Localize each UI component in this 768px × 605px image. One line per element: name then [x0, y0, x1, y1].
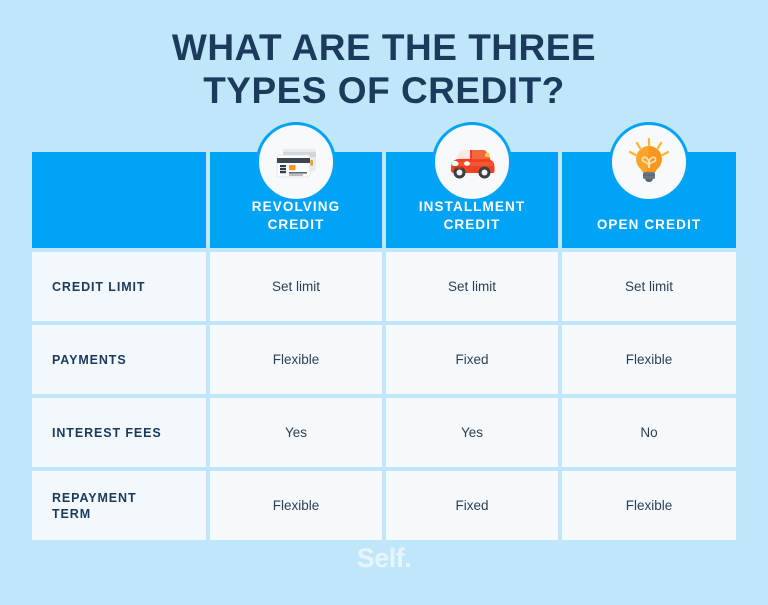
row-label-line-1: INTEREST FEES: [52, 426, 162, 440]
cell-value: Fixed: [455, 351, 488, 369]
row-label-text: INTEREST FEES: [52, 425, 162, 441]
row-label-payments: PAYMENTS: [32, 325, 206, 394]
cell-value: Flexible: [626, 497, 673, 515]
column-header-line-2: CREDIT: [444, 217, 501, 232]
column-header-line-2: CREDIT: [268, 217, 325, 232]
car-icon: [432, 122, 512, 202]
cell-value: Set limit: [625, 278, 673, 296]
row-label-line-1: PAYMENTS: [52, 353, 127, 367]
column-header-line-1: OPEN CREDIT: [597, 217, 701, 232]
column-header-label-revolving-credit: REVOLVING CREDIT: [252, 198, 340, 234]
table-cell-repayment-term-revolving: Flexible: [210, 471, 382, 540]
lightbulb-icon: [609, 122, 689, 202]
column-header-installment-credit: INSTALLMENT CREDIT: [386, 152, 558, 248]
brand-logo-text: Self.: [357, 543, 412, 573]
page-title-line-1: WHAT ARE THE THREE: [0, 26, 768, 69]
table-cell-interest-fees-installment: Yes: [386, 398, 558, 467]
column-header-revolving-credit: REVOLVING CREDIT: [210, 152, 382, 248]
row-label-interest-fees: INTEREST FEES: [32, 398, 206, 467]
row-label-text: CREDIT LIMIT: [52, 279, 145, 295]
table-cell-payments-open: Flexible: [562, 325, 736, 394]
table-cell-credit-limit-open: Set limit: [562, 252, 736, 321]
credit-comparison-table: REVOLVING CREDIT INSTALLMENT CRED: [32, 152, 736, 540]
column-header-label-installment-credit: INSTALLMENT CREDIT: [419, 198, 525, 234]
cell-value: No: [640, 424, 657, 442]
row-label-line-2: TERM: [52, 507, 91, 521]
column-header-label-open-credit: OPEN CREDIT: [597, 216, 701, 234]
row-label-line-1: CREDIT LIMIT: [52, 280, 145, 294]
cell-value: Flexible: [273, 351, 320, 369]
row-label-credit-limit: CREDIT LIMIT: [32, 252, 206, 321]
table-cell-credit-limit-revolving: Set limit: [210, 252, 382, 321]
table-cell-payments-installment: Fixed: [386, 325, 558, 394]
cell-value: Yes: [285, 424, 307, 442]
cell-value: Flexible: [626, 351, 673, 369]
table-cell-repayment-term-open: Flexible: [562, 471, 736, 540]
cell-value: Set limit: [272, 278, 320, 296]
table-cell-interest-fees-open: No: [562, 398, 736, 467]
cell-value: Flexible: [273, 497, 320, 515]
cell-value: Yes: [461, 424, 483, 442]
page-title-line-2: TYPES OF CREDIT?: [0, 69, 768, 112]
credit-card-icon: [256, 122, 336, 202]
table-cell-payments-revolving: Flexible: [210, 325, 382, 394]
cell-value: Fixed: [455, 497, 488, 515]
page-title: WHAT ARE THE THREE TYPES OF CREDIT?: [0, 26, 768, 112]
table-cell-repayment-term-installment: Fixed: [386, 471, 558, 540]
column-header-open-credit: OPEN CREDIT: [562, 152, 736, 248]
row-label-text: PAYMENTS: [52, 352, 127, 368]
row-label-text: REPAYMENT TERM: [52, 490, 137, 522]
table-corner-cell: [32, 152, 206, 248]
cell-value: Set limit: [448, 278, 496, 296]
brand-logo: Self.: [0, 543, 768, 574]
table-cell-credit-limit-installment: Set limit: [386, 252, 558, 321]
row-label-repayment-term: REPAYMENT TERM: [32, 471, 206, 540]
table-cell-interest-fees-revolving: Yes: [210, 398, 382, 467]
row-label-line-1: REPAYMENT: [52, 491, 137, 505]
